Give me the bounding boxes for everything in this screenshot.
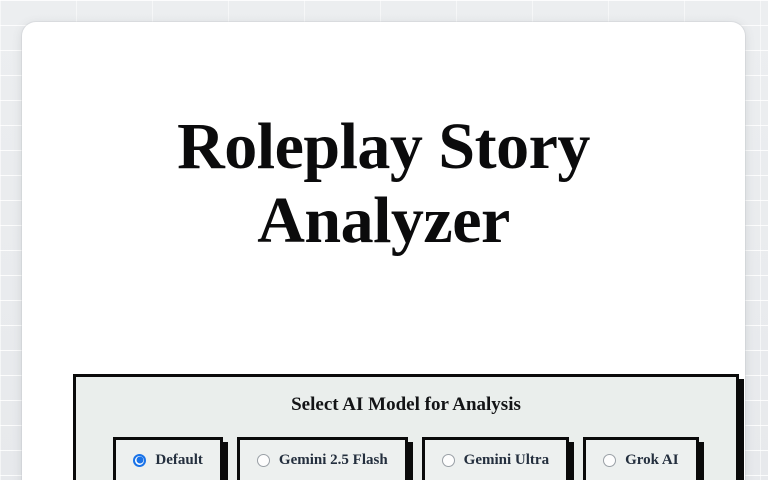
radio-unselected-icon[interactable] (603, 454, 616, 467)
model-options-group: Default Gemini 2.5 Flash Gemini Ultra Gr… (92, 437, 720, 480)
radio-selected-icon[interactable] (133, 454, 146, 467)
model-option-label: Default (155, 453, 203, 468)
model-selector-panel: Select AI Model for Analysis Default Gem… (73, 374, 739, 480)
model-option-label: Gemini 2.5 Flash (279, 453, 388, 468)
model-option-label: Grok AI (625, 453, 679, 468)
radio-unselected-icon[interactable] (257, 454, 270, 467)
app-card: Roleplay Story Analyzer Select AI Model … (22, 22, 745, 480)
model-panel-heading: Select AI Model for Analysis (92, 394, 720, 417)
page-title: Roleplay Story Analyzer (52, 22, 715, 258)
model-option-gemini-2-5-flash[interactable]: Gemini 2.5 Flash (237, 437, 408, 480)
model-option-gemini-ultra[interactable]: Gemini Ultra (422, 437, 569, 480)
radio-unselected-icon[interactable] (442, 454, 455, 467)
page-root: Roleplay Story Analyzer Select AI Model … (0, 0, 768, 480)
model-option-grok-ai[interactable]: Grok AI (583, 437, 699, 480)
model-option-default[interactable]: Default (113, 437, 223, 480)
model-option-label: Gemini Ultra (464, 453, 549, 468)
